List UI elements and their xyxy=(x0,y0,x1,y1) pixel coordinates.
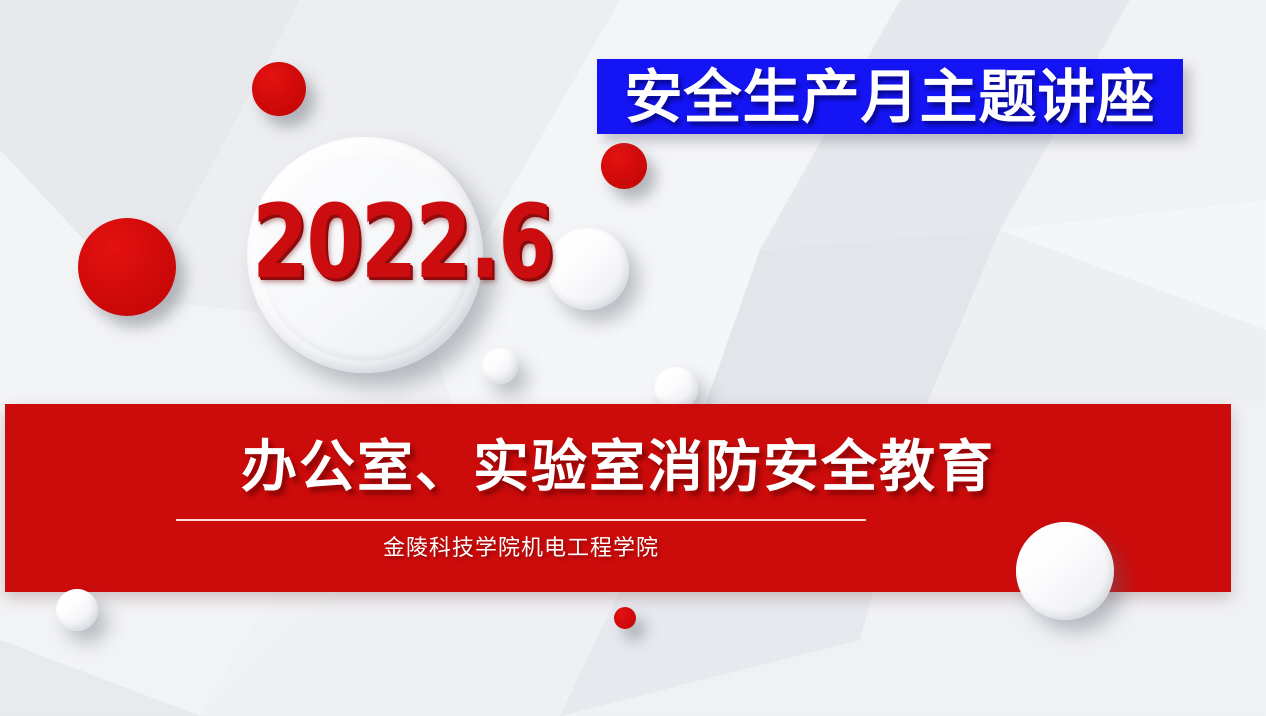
presentation-slide: 2022.6 安全生产月主题讲座 办公室、实验室消防安全教育 金陵科技学院机电工… xyxy=(0,0,1266,716)
lecture-topic-banner: 安全生产月主题讲座 xyxy=(597,59,1183,134)
red-dot-left-large xyxy=(78,218,176,316)
red-dot-top-mid xyxy=(601,143,647,189)
white-circle-bottom-left xyxy=(56,589,98,631)
red-dot-top-left xyxy=(252,62,306,116)
year-label: 2022.6 xyxy=(252,192,588,294)
page-title: 办公室、实验室消防安全教育 xyxy=(5,440,1231,496)
lecture-topic-label: 安全生产月主题讲座 xyxy=(624,68,1155,126)
title-divider xyxy=(176,519,866,521)
white-circle-bottom-right xyxy=(1016,522,1114,620)
red-dot-bottom-mid xyxy=(614,607,636,629)
white-circle-small-left xyxy=(482,348,518,384)
organization-subtitle: 金陵科技学院机电工程学院 xyxy=(176,535,866,564)
